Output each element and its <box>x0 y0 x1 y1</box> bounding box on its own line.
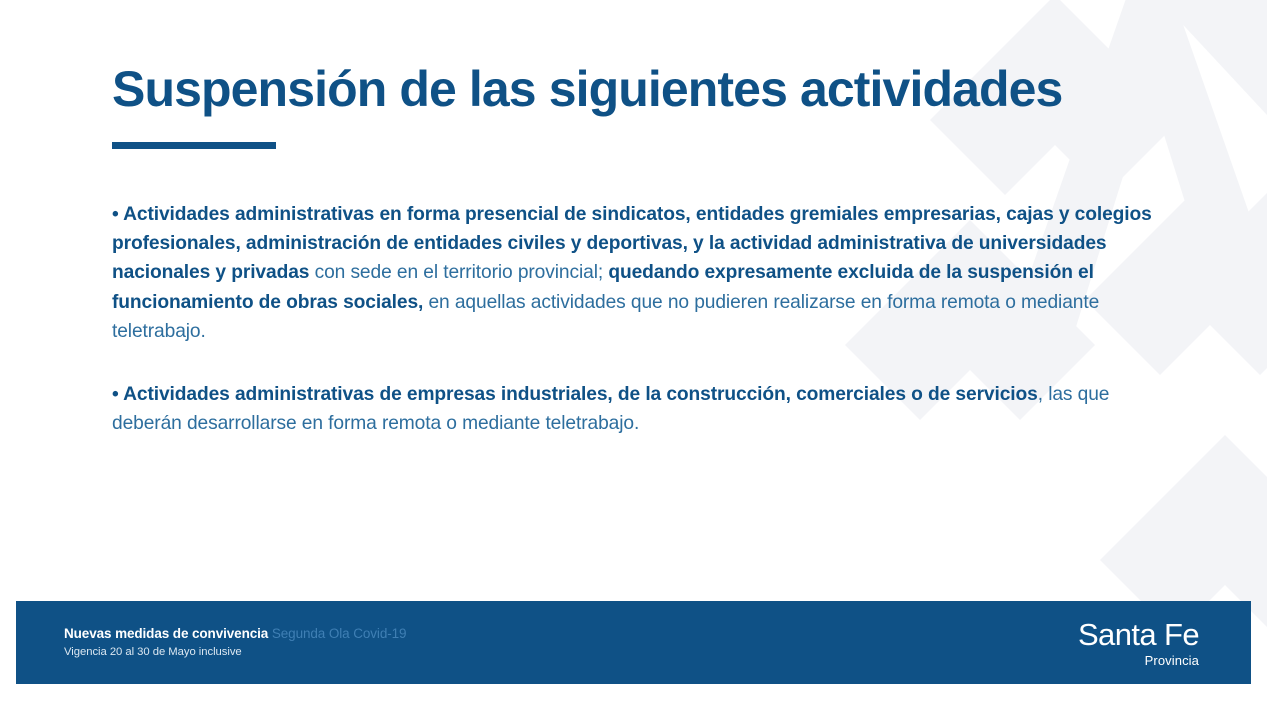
footer-bar: Nuevas medidas de convivencia Segunda Ol… <box>16 601 1251 684</box>
emphasis-run: Actividades administrativas de empresas … <box>123 384 1038 405</box>
title-underline-rule <box>112 142 276 149</box>
headline-block: Suspensión de las siguientes actividades <box>112 62 1062 149</box>
footer-headline: Nuevas medidas de convivencia Segunda Ol… <box>64 626 406 643</box>
regular-run: con sede en el territorio provincial; <box>309 262 608 283</box>
logo-wordmark: Santa Fe <box>1078 619 1199 650</box>
bullet-paragraph-1: • Actividades administrativas en forma p… <box>112 200 1152 346</box>
paragraph-1-text: Actividades administrativas en forma pre… <box>112 204 1152 342</box>
footer-validity-text: Vigencia 20 al 30 de Mayo inclusive <box>64 645 406 659</box>
bullet-marker-2: • <box>112 384 123 405</box>
footer-headline-sub: Segunda Ola Covid-19 <box>272 626 407 641</box>
logo-subtitle: Provincia <box>1145 654 1199 667</box>
footer-text-block: Nuevas medidas de convivencia Segunda Ol… <box>64 626 406 660</box>
body-copy: • Actividades administrativas en forma p… <box>112 200 1152 438</box>
bullet-paragraph-2: • Actividades administrativas de empresa… <box>112 380 1152 438</box>
paragraph-2-text: Actividades administrativas de empresas … <box>112 384 1109 434</box>
page-title: Suspensión de las siguientes actividades <box>112 62 1062 116</box>
slide-root: Suspensión de las siguientes actividades… <box>0 0 1267 711</box>
footer-headline-strong: Nuevas medidas de convivencia <box>64 626 268 641</box>
bullet-marker-1: • <box>112 204 123 225</box>
santa-fe-logo: Santa Fe Provincia <box>1078 619 1217 667</box>
